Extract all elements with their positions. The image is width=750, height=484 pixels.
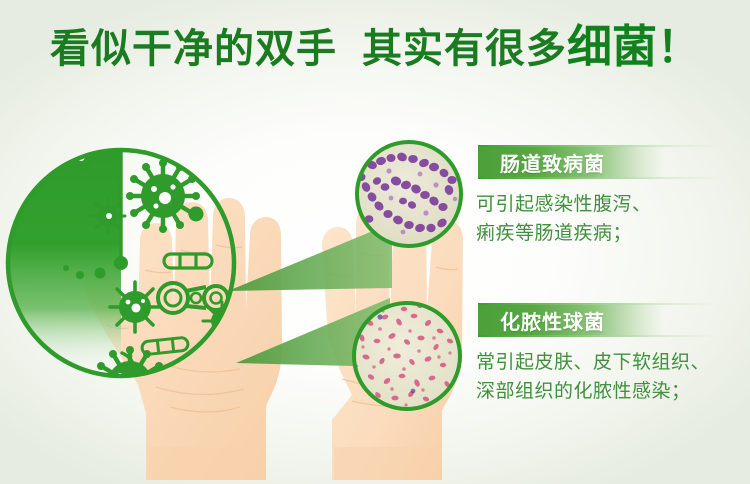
title-part-1: 看似干净的双手: [50, 26, 337, 72]
infographic-poster: 看似干净的双手 其实有很多细菌！: [0, 0, 750, 484]
body-line: 痢疾等肠道疾病；: [476, 219, 748, 248]
section-heading-intestinal: 肠道致病菌: [476, 145, 748, 179]
body-line: 可引起感染性腹泻、: [476, 190, 748, 219]
heading-label: 肠道致病菌: [500, 147, 605, 177]
body-line: 深部组织的化脓性感染；: [476, 377, 748, 406]
rod-chain-bottom: [79, 418, 121, 439]
section-heading-pyogenic: 化脓性球菌: [476, 303, 748, 337]
magnifier-green-half: [8, 150, 121, 376]
info-section-intestinal: 肠道致病菌 可引起感染性腹泻、 痢疾等肠道疾病；: [476, 145, 748, 248]
title-exclamation: ！: [657, 24, 700, 72]
body-line: 常引起皮肤、皮下软组织、: [476, 348, 748, 377]
spiky-germ-mid: [110, 282, 160, 332]
title-emphasis: 细菌: [567, 20, 657, 73]
magnifier-pivot-dot: [114, 256, 128, 270]
page-title: 看似干净的双手 其实有很多细菌！: [0, 24, 750, 70]
microscope-view-pyogenic: [351, 303, 460, 409]
section-body-pyogenic: 常引起皮肤、皮下软组织、 深部组织的化脓性感染；: [476, 348, 748, 406]
title-part-2: 其实有很多: [362, 26, 567, 72]
heading-rule-bottom: [478, 177, 718, 179]
info-section-pyogenic: 化脓性球菌 常引起皮肤、皮下软组织、 深部组织的化脓性感染；: [476, 303, 748, 406]
heading-rule-bottom: [478, 335, 718, 337]
section-body-intestinal: 可引起感染性腹泻、 痢疾等肠道疾病；: [476, 190, 748, 248]
microscope-view-intestinal: [357, 142, 462, 246]
heading-label: 化脓性球菌: [500, 305, 605, 335]
